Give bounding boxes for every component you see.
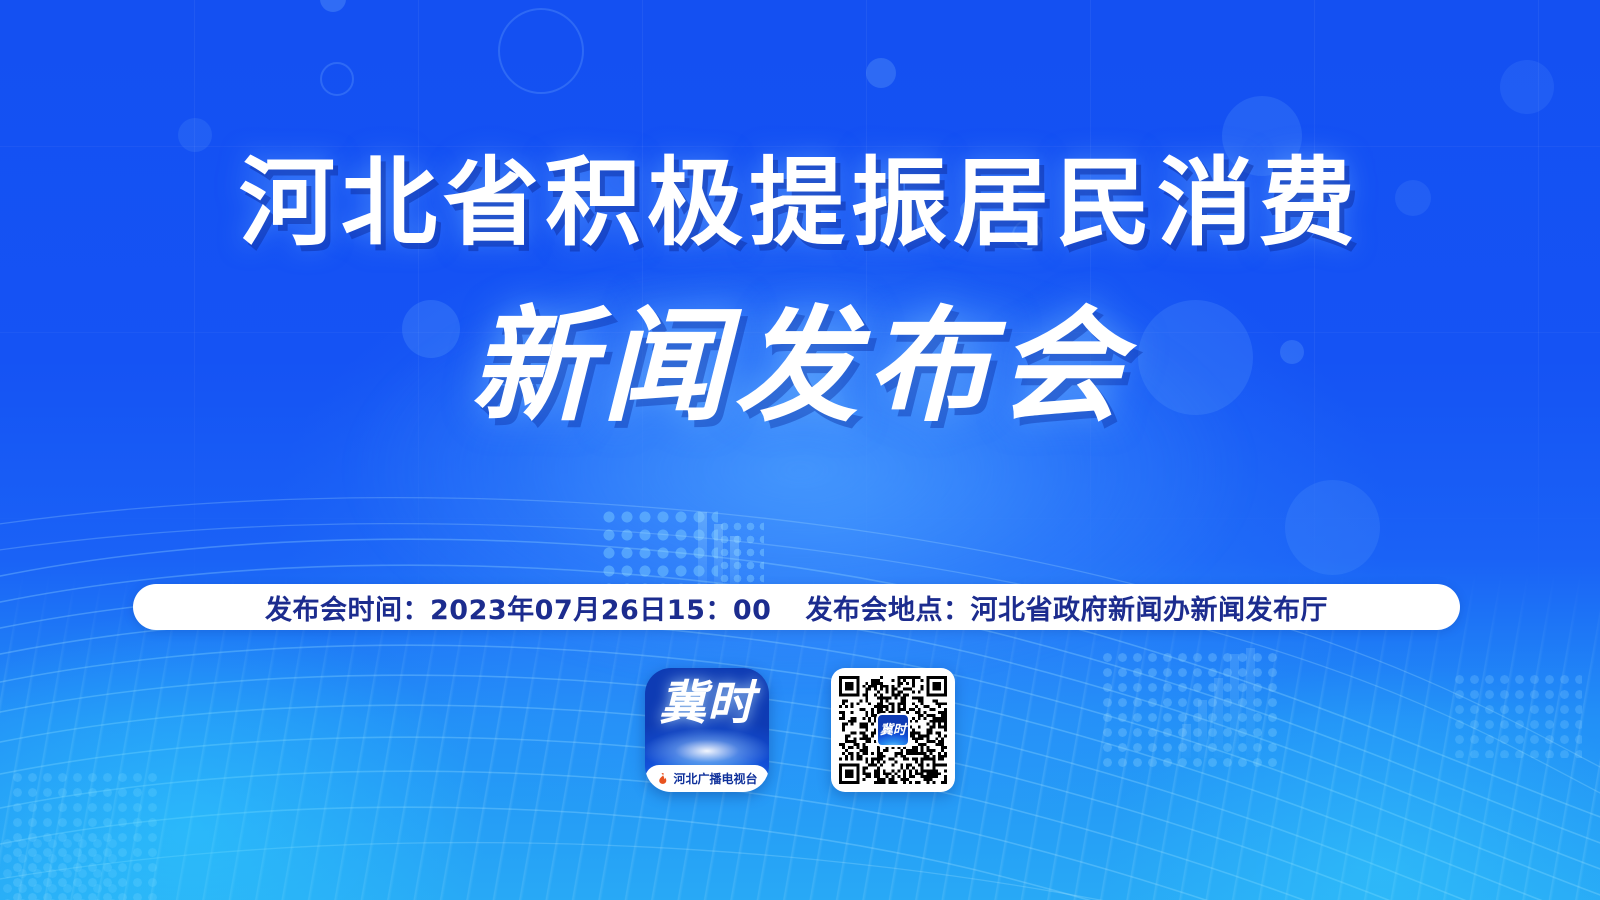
flame-icon <box>656 772 669 785</box>
place-label: 发布会地点： <box>805 595 970 626</box>
title-line-1: 河北省积极提振居民消费 <box>0 150 1600 258</box>
logo-station-strip: 河北广播电视台 <box>645 765 769 792</box>
qr-center-logo: 冀时 <box>876 713 910 747</box>
place-value: 河北省政府新闻办新闻发布厅 <box>970 595 1328 626</box>
jishi-logo[interactable]: 冀时 河北广播电视台 <box>645 668 769 792</box>
news-conference-poster: 河北省积极提振居民消费 新闻发布会 发布会时间：2023年07月26日15：00… <box>0 0 1600 900</box>
poster-title: 河北省积极提振居民消费 新闻发布会 <box>0 150 1600 433</box>
logo-station-name: 河北广播电视台 <box>673 770 757 787</box>
info-banner: 发布会时间：2023年07月26日15：00发布会地点：河北省政府新闻办新闻发布… <box>133 584 1460 630</box>
qr-center-logo-text: 冀时 <box>880 724 906 737</box>
title-line-2: 新闻发布会 <box>0 300 1600 434</box>
qr-code-matrix: 冀时 <box>839 676 947 784</box>
logo-calligraphy-text: 冀时 <box>659 680 755 727</box>
info-banner-text: 发布会时间：2023年07月26日15：00发布会地点：河北省政府新闻办新闻发布… <box>265 588 1328 627</box>
time-value: 2023年07月26日15：00 <box>430 595 771 626</box>
time-label: 发布会时间： <box>265 595 430 626</box>
badge-row: 冀时 河北广播电视台 冀时 <box>0 668 1600 792</box>
qr-code[interactable]: 冀时 <box>831 668 955 792</box>
